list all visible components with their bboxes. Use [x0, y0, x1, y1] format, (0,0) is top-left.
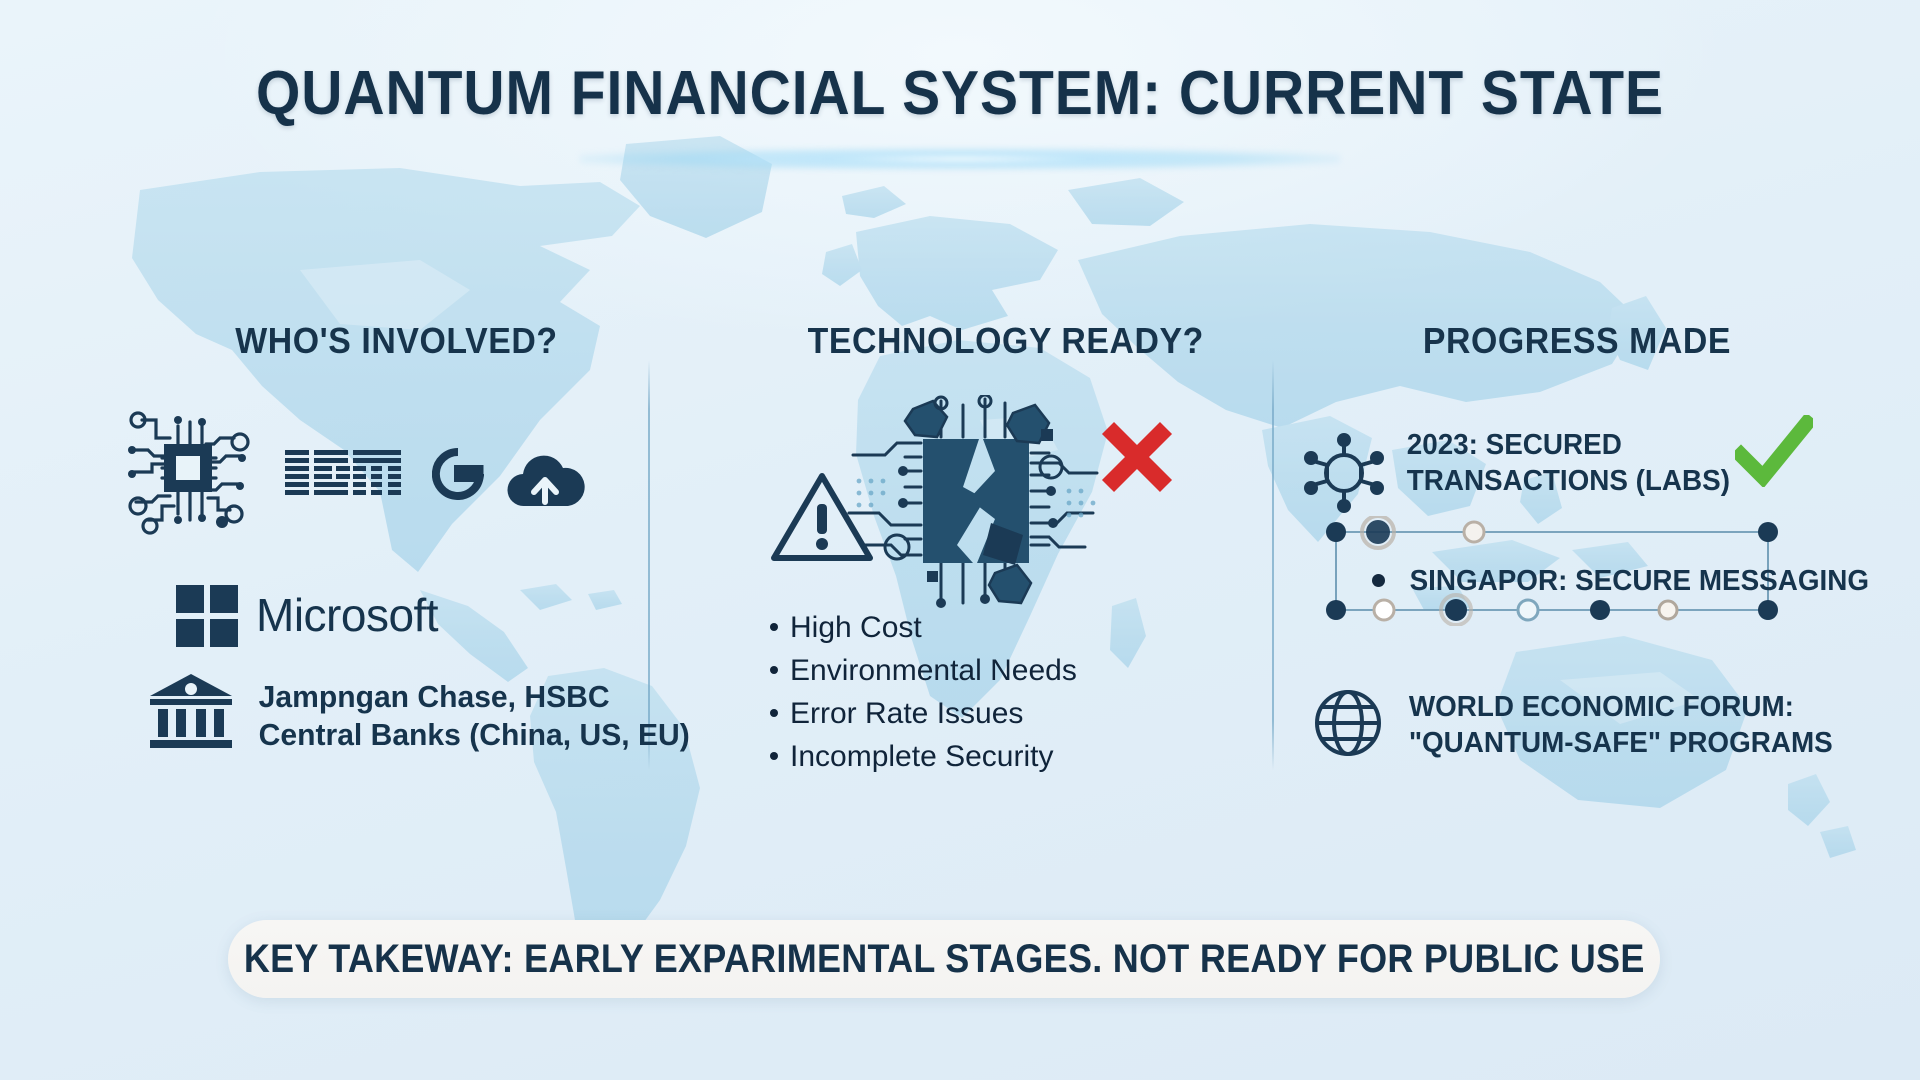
bank-icon	[148, 672, 234, 750]
progress-row-2-bullet-icon	[1372, 574, 1385, 587]
cloud-upload-icon	[504, 452, 586, 512]
progress-row-1-line-2: TRANSACTIONS (LABS)	[1407, 464, 1730, 500]
list-item-label: Error Rate Issues	[790, 699, 1023, 729]
progress-row-1-line-1: 2023: SECURED	[1407, 428, 1730, 464]
column-heading-progress: PROGRESS MADE	[1423, 320, 1731, 362]
page-title: QUANTUM FINANCIAL SYSTEM: CURRENT STATE	[77, 58, 1843, 129]
progress-row-3-line-2: "QUANTUM-SAFE" PROGRAMS	[1409, 726, 1833, 762]
bullet-dot-icon	[770, 666, 778, 674]
green-check-icon	[1735, 415, 1813, 487]
column-heading-who: WHO'S INVOLVED?	[235, 320, 557, 362]
list-item: Error Rate Issues	[770, 699, 1130, 729]
key-takeaway-text: KEY TAKEWAY: EARLY EXPARIMENTAL STAGES. …	[244, 937, 1645, 982]
globe-icon	[1312, 687, 1384, 759]
list-item-label: Environmental Needs	[790, 656, 1077, 686]
list-item: High Cost	[770, 613, 1130, 643]
broken-chip-icon	[845, 395, 1105, 610]
list-item-label: High Cost	[790, 613, 922, 643]
title-glow-decoration	[580, 148, 1340, 170]
banks-line-2: Central Banks (China, US, EU)	[259, 716, 690, 754]
bullet-dot-icon	[770, 752, 778, 760]
microsoft-wordmark: Microsoft	[256, 588, 438, 642]
progress-row-1-label: 2023: SECURED TRANSACTIONS (LABS)	[1407, 428, 1730, 500]
quantum-node-icon	[1303, 432, 1385, 514]
ibm-logo	[285, 448, 403, 496]
progress-row-3-label: WORLD ECONOMIC FORUM: "QUANTUM-SAFE" PRO…	[1409, 690, 1833, 762]
microsoft-logo-icon	[176, 585, 238, 647]
list-item: Environmental Needs	[770, 656, 1130, 686]
banks-line-1: Jampngan Chase, HSBC	[259, 678, 690, 716]
column-heading-technology: TECHNOLOGY READY?	[808, 320, 1204, 362]
infographic-canvas: QUANTUM FINANCIAL SYSTEM: CURRENT STATE …	[0, 0, 1920, 1080]
bullet-dot-icon	[770, 623, 778, 631]
list-item: Incomplete Security	[770, 742, 1130, 772]
divider-right	[1272, 360, 1274, 770]
list-item-label: Incomplete Security	[790, 742, 1053, 772]
technology-issues-list: High Cost Environmental Needs Error Rate…	[770, 613, 1130, 785]
progress-row-2-label: SINGAPOR: SECURE MESSAGING	[1410, 565, 1869, 598]
chip-icon	[118, 398, 258, 538]
bullet-dot-icon	[770, 709, 778, 717]
google-logo-icon	[432, 448, 484, 500]
progress-row-3-line-1: WORLD ECONOMIC FORUM:	[1409, 690, 1833, 726]
banks-label: Jampngan Chase, HSBC Central Banks (Chin…	[259, 678, 690, 754]
page-title-wrap: QUANTUM FINANCIAL SYSTEM: CURRENT STATE	[0, 58, 1920, 129]
red-x-icon	[1098, 418, 1176, 496]
key-takeaway-banner: KEY TAKEWAY: EARLY EXPARIMENTAL STAGES. …	[228, 920, 1660, 998]
